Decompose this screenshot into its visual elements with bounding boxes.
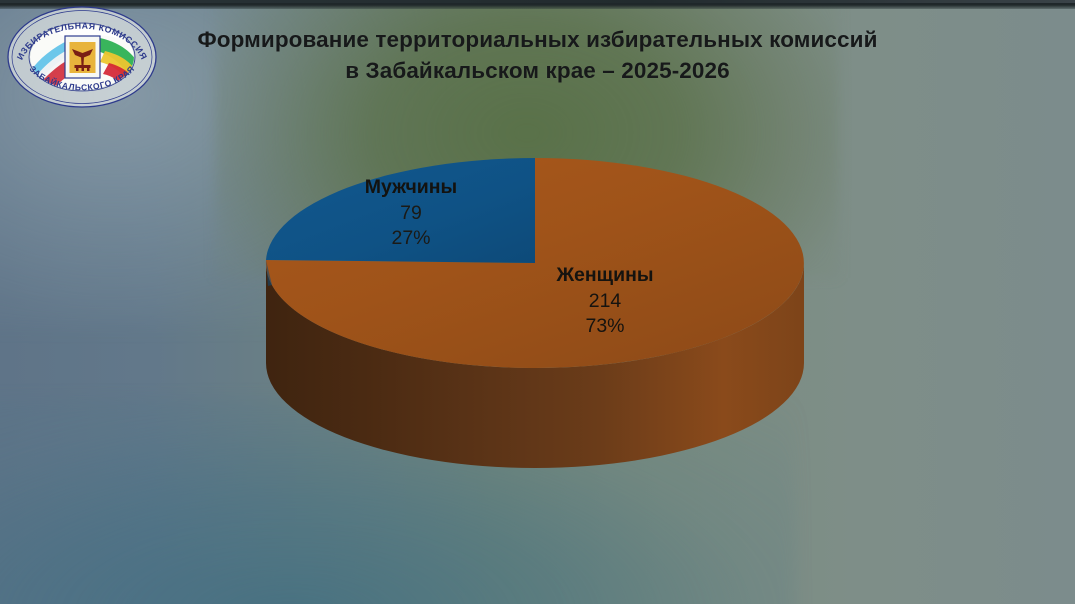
pie-label-men-percent: 27%: [306, 226, 516, 252]
slide-canvas: ИЗБИРАТЕЛЬНАЯ КОМИССИЯ ЗАБАЙКАЛЬСКОГО КР…: [0, 0, 1075, 604]
pie-label-women-value: 214: [500, 289, 710, 315]
pie-label-men-value: 79: [306, 201, 516, 227]
pie-chart: Мужчины 79 27% Женщины 214 73%: [0, 0, 1075, 604]
pie-label-women-percent: 73%: [500, 314, 710, 340]
pie-label-women: Женщины 214 73%: [500, 263, 710, 340]
pie-label-men: Мужчины 79 27%: [306, 175, 516, 252]
pie-label-women-name: Женщины: [500, 263, 710, 289]
pie-label-men-name: Мужчины: [306, 175, 516, 201]
